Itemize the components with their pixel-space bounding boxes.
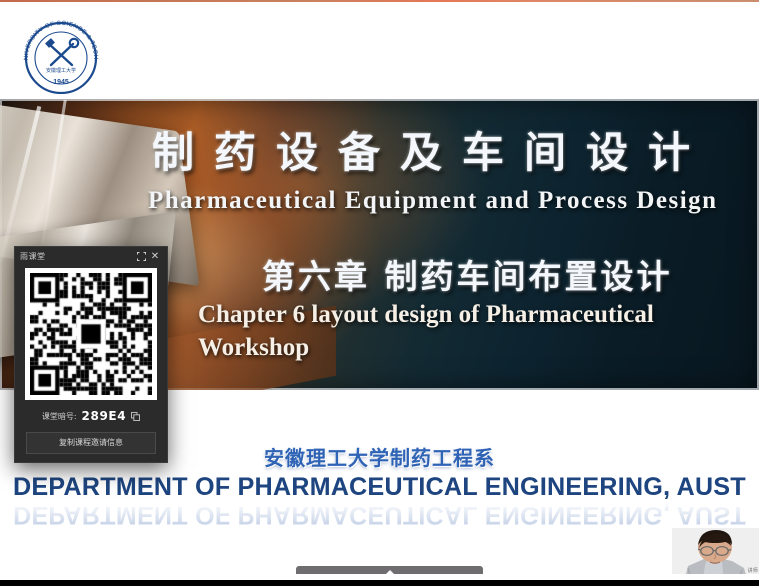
class-code-row: 课堂暗号: 289E4: [15, 409, 167, 423]
presentation-slide: ANHUI UNIVERSITY OF SCIENCE & TECHNOLOGY…: [0, 2, 759, 574]
banner-title-cn: 制药设备及车间设计: [152, 119, 710, 180]
metal-edge-line-2: [40, 100, 66, 249]
qr-code-image: [25, 268, 157, 400]
copy-invite-info-button[interactable]: 复制课程邀请信息: [26, 432, 156, 454]
metal-edge-line: [0, 106, 41, 262]
presenter-webcam-feed[interactable]: 讲师: [672, 528, 759, 574]
banner-title-en: Pharmaceutical Equipment and Process Des…: [148, 187, 718, 215]
chapter-title-en: Chapter 6 layout design of Pharmaceutica…: [198, 298, 754, 364]
university-seal-logo: ANHUI UNIVERSITY OF SCIENCE & TECHNOLOGY…: [8, 8, 114, 94]
copy-icon[interactable]: [131, 412, 140, 421]
maximize-icon[interactable]: [134, 250, 148, 264]
caret-up-icon[interactable]: [384, 570, 396, 574]
chapter-title-cn: 第六章 制药车间布置设计: [262, 250, 673, 298]
class-code-value: 289E4: [82, 409, 127, 423]
qr-code-canvas: [30, 273, 152, 395]
class-code-label: 课堂暗号:: [42, 411, 77, 422]
presentation-control-bar[interactable]: [296, 566, 483, 574]
bottom-black-strip: [0, 580, 759, 586]
svg-text:安徽理工大学: 安徽理工大学: [46, 67, 76, 74]
webcam-overlay-label: 讲师: [748, 567, 758, 574]
department-name-en-reflection: DEPARTMENT OF PHARMACEUTICAL ENGINEERING…: [0, 500, 759, 529]
class-code-qr-dialog[interactable]: 雨课堂 ✕ 课堂暗号: 289E4 复制课程邀请信息: [14, 246, 168, 463]
close-icon[interactable]: ✕: [148, 250, 162, 264]
qr-dialog-titlebar[interactable]: 雨课堂 ✕: [15, 247, 167, 266]
svg-text:1945: 1945: [53, 79, 69, 86]
qr-dialog-title: 雨课堂: [20, 251, 134, 262]
department-name-en: DEPARTMENT OF PHARMACEUTICAL ENGINEERING…: [0, 473, 759, 502]
